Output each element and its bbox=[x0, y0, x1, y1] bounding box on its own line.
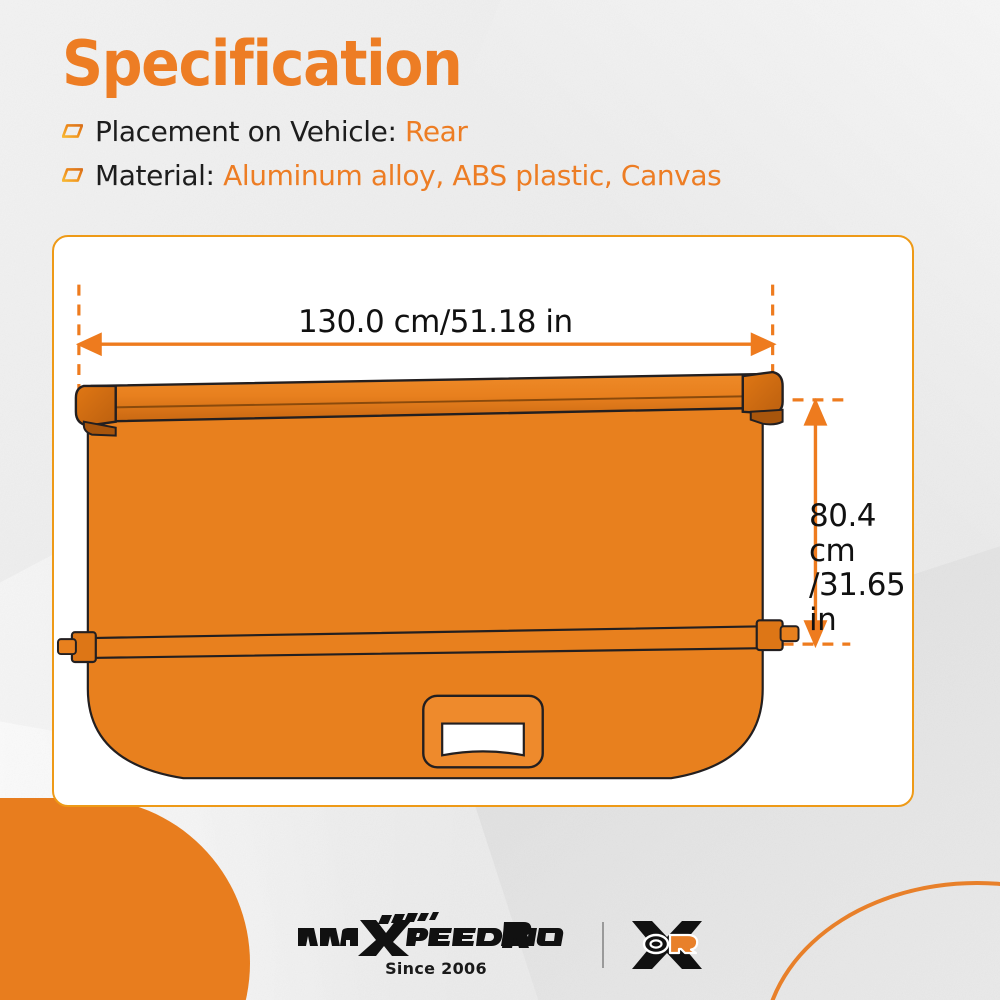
header: Specification Placement on Vehicle: Rear bbox=[62, 32, 942, 197]
cover-roller-right-foot bbox=[751, 410, 783, 425]
brand-tagline: Since 2006 bbox=[385, 959, 487, 978]
width-dimension-label: 130.0 cm/51.18 in bbox=[298, 305, 573, 340]
spec-item-placement-text: Placement on Vehicle: Rear bbox=[95, 115, 468, 148]
spec-item-placement: Placement on Vehicle: Rear bbox=[62, 109, 942, 153]
oxr-letter-r bbox=[670, 935, 697, 953]
cover-bottom-right-pin bbox=[781, 626, 799, 641]
brand-logo: Since 2006 bbox=[296, 912, 576, 978]
cover-roller-right-cap bbox=[743, 372, 783, 414]
spec-item-material-text: Material: Aluminum alloy, ABS plastic, C… bbox=[95, 159, 721, 192]
height-dimension-label: 80.4 cm /31.65 in bbox=[809, 499, 912, 638]
recessed-pull-handle bbox=[423, 696, 542, 767]
cover-roller-left-cap bbox=[76, 386, 116, 426]
specification-card: 130.0 cm/51.18 in 80.4 cm /31.65 in bbox=[52, 235, 914, 807]
footer-divider bbox=[602, 922, 604, 968]
spec-list: Placement on Vehicle: Rear Material: Alu… bbox=[62, 109, 942, 197]
page-title: Specification bbox=[62, 32, 872, 95]
cover-canvas-panel bbox=[88, 386, 763, 646]
spec-item-material-label: Material: bbox=[95, 159, 223, 192]
cargo-cover-illustration bbox=[58, 372, 799, 778]
cover-bottom-left-pin bbox=[58, 639, 76, 654]
oxr-letter-o-inner bbox=[651, 940, 662, 947]
parallelogram-bullet-icon bbox=[62, 168, 83, 182]
spec-item-material: Material: Aluminum alloy, ABS plastic, C… bbox=[62, 153, 942, 197]
spec-item-material-value: Aluminum alloy, ABS plastic, Canvas bbox=[223, 159, 721, 192]
footer: Since 2006 bbox=[0, 900, 1000, 990]
maxpeedingrods-wordmark bbox=[296, 912, 576, 956]
parallelogram-bullet-icon bbox=[62, 124, 83, 138]
cover-bottom-right-cap bbox=[757, 620, 783, 650]
x-mark-icon bbox=[358, 920, 412, 956]
oxr-logo bbox=[630, 919, 704, 971]
spec-item-placement-label: Placement on Vehicle: bbox=[95, 115, 405, 148]
spec-item-placement-value: Rear bbox=[405, 115, 468, 148]
